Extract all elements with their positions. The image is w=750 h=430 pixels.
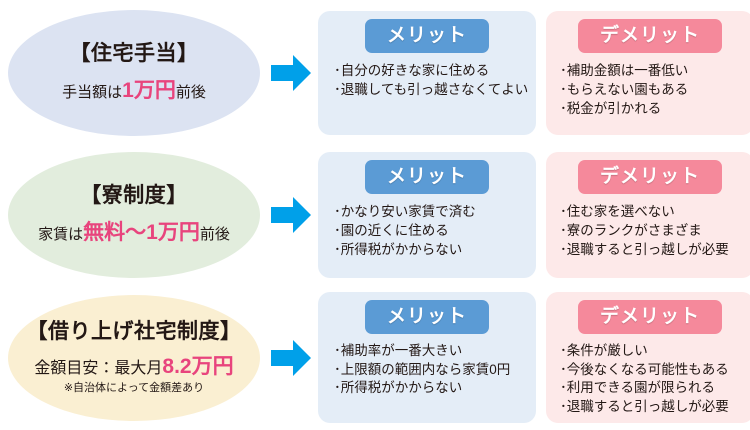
list-item: ･所得税がかからない <box>334 240 530 259</box>
demerit-list-3: ･条件が厳しい ･今後なくなる可能性もある ･利用できる園が限られる ･退職する… <box>552 342 748 417</box>
scheme-ellipse-housing-allowance: 【住宅手当】 手当額は1万円前後 <box>8 10 260 136</box>
demerit-badge: デメリット <box>578 300 722 334</box>
demerit-panel-1: デメリット ･補助金額は一番低い ･もらえない園もある ･税金が引かれる <box>546 11 750 135</box>
scheme-subtitle-amount: 8.2万円 <box>162 355 233 378</box>
arrow-container-1 <box>268 0 314 145</box>
scheme-title: 【寮制度】 <box>80 184 188 207</box>
merit-list-1: ･自分の好きな家に住める ･退職しても引っ越さなくてよい <box>324 61 530 99</box>
demerit-list-2: ･住む家を選べない ･寮のランクがさまざま ･退職すると引っ越しが必要 <box>552 202 748 259</box>
merit-panel-2: メリット ･かなり安い家賃で済む ･園の近くに住める ･所得税がかからない <box>318 152 536 278</box>
list-item: ･退職すると引っ越しが必要 <box>560 240 748 259</box>
list-item: ･上限額の範囲内なら家賃0円 <box>334 361 530 380</box>
comparison-row-housing-allowance: 【住宅手当】 手当額は1万円前後 メリット ･自分の好きな家に住める ･退職して… <box>0 0 750 145</box>
arrow-right-icon <box>269 51 313 95</box>
scheme-subtitle: 金額目安：最大月8.2万円 <box>34 354 233 379</box>
merit-list-2: ･かなり安い家賃で済む ･園の近くに住める ･所得税がかからない <box>324 202 530 259</box>
arrow-right-icon <box>269 336 313 380</box>
demerit-panel-3: デメリット ･条件が厳しい ･今後なくなる可能性もある ･利用できる園が限られる… <box>546 292 750 423</box>
list-item: ･もらえない園もある <box>560 80 748 99</box>
demerit-badge: デメリット <box>578 160 722 194</box>
comparison-chart: 【住宅手当】 手当額は1万円前後 メリット ･自分の好きな家に住める ･退職して… <box>0 0 750 430</box>
scheme-subtitle: 家賃は無料〜1万円前後 <box>38 220 230 245</box>
scheme-subtitle-prefix: 手当額は <box>62 84 122 101</box>
comparison-row-company-housing: 【借り上げ社宅制度】 金額目安：最大月8.2万円 ※自治体によって金額差あり メ… <box>0 285 750 430</box>
ellipse-container-2: 【寮制度】 家賃は無料〜1万円前後 <box>0 145 268 285</box>
scheme-footnote: ※自治体によって金額差あり <box>64 382 204 395</box>
scheme-ellipse-company-housing: 【借り上げ社宅制度】 金額目安：最大月8.2万円 ※自治体によって金額差あり <box>8 295 260 421</box>
arrow-right-icon <box>269 193 313 237</box>
scheme-subtitle-amount: 1万円 <box>122 79 176 102</box>
scheme-subtitle-suffix: 前後 <box>200 226 230 243</box>
list-item: ･退職しても引っ越さなくてよい <box>334 80 530 99</box>
demerit-list-1: ･補助金額は一番低い ･もらえない園もある ･税金が引かれる <box>552 61 748 118</box>
scheme-ellipse-dormitory: 【寮制度】 家賃は無料〜1万円前後 <box>8 152 260 278</box>
list-item: ･自分の好きな家に住める <box>334 61 530 80</box>
list-item: ･補助金額は一番低い <box>560 61 748 80</box>
list-item: ･退職すると引っ越しが必要 <box>560 398 748 417</box>
list-item: ･補助率が一番大きい <box>334 342 530 361</box>
scheme-title: 【住宅手当】 <box>70 42 199 65</box>
scheme-subtitle-prefix: 家賃は <box>38 226 83 243</box>
demerit-badge: デメリット <box>578 19 722 53</box>
list-item: ･税金が引かれる <box>560 99 748 118</box>
merit-panel-1: メリット ･自分の好きな家に住める ･退職しても引っ越さなくてよい <box>318 11 536 135</box>
ellipse-container-3: 【借り上げ社宅制度】 金額目安：最大月8.2万円 ※自治体によって金額差あり <box>0 285 268 430</box>
list-item: ･今後なくなる可能性もある <box>560 361 748 380</box>
arrow-container-3 <box>268 285 314 430</box>
list-item: ･かなり安い家賃で済む <box>334 202 530 221</box>
scheme-subtitle-prefix: 金額目安：最大月 <box>34 360 162 377</box>
demerit-panel-2: デメリット ･住む家を選べない ･寮のランクがさまざま ･退職すると引っ越しが必… <box>546 152 750 278</box>
list-item: ･利用できる園が限られる <box>560 379 748 398</box>
scheme-subtitle: 手当額は1万円前後 <box>62 78 206 103</box>
ellipse-container-1: 【住宅手当】 手当額は1万円前後 <box>0 0 268 145</box>
arrow-container-2 <box>268 145 314 285</box>
list-item: ･寮のランクがさまざま <box>560 221 748 240</box>
scheme-subtitle-amount: 無料〜1万円 <box>83 221 200 244</box>
scheme-subtitle-suffix: 前後 <box>176 84 206 101</box>
list-item: ･園の近くに住める <box>334 221 530 240</box>
merit-badge: メリット <box>365 160 489 194</box>
merit-panel-3: メリット ･補助率が一番大きい ･上限額の範囲内なら家賃0円 ･所得税がかからな… <box>318 292 536 423</box>
comparison-row-dormitory: 【寮制度】 家賃は無料〜1万円前後 メリット ･かなり安い家賃で済む ･園の近く… <box>0 145 750 285</box>
list-item: ･所得税がかからない <box>334 379 530 398</box>
scheme-title: 【借り上げ社宅制度】 <box>27 320 242 343</box>
list-item: ･条件が厳しい <box>560 342 748 361</box>
list-item: ･住む家を選べない <box>560 202 748 221</box>
merit-list-3: ･補助率が一番大きい ･上限額の範囲内なら家賃0円 ･所得税がかからない <box>324 342 530 398</box>
merit-badge: メリット <box>365 19 489 53</box>
merit-badge: メリット <box>365 300 489 334</box>
